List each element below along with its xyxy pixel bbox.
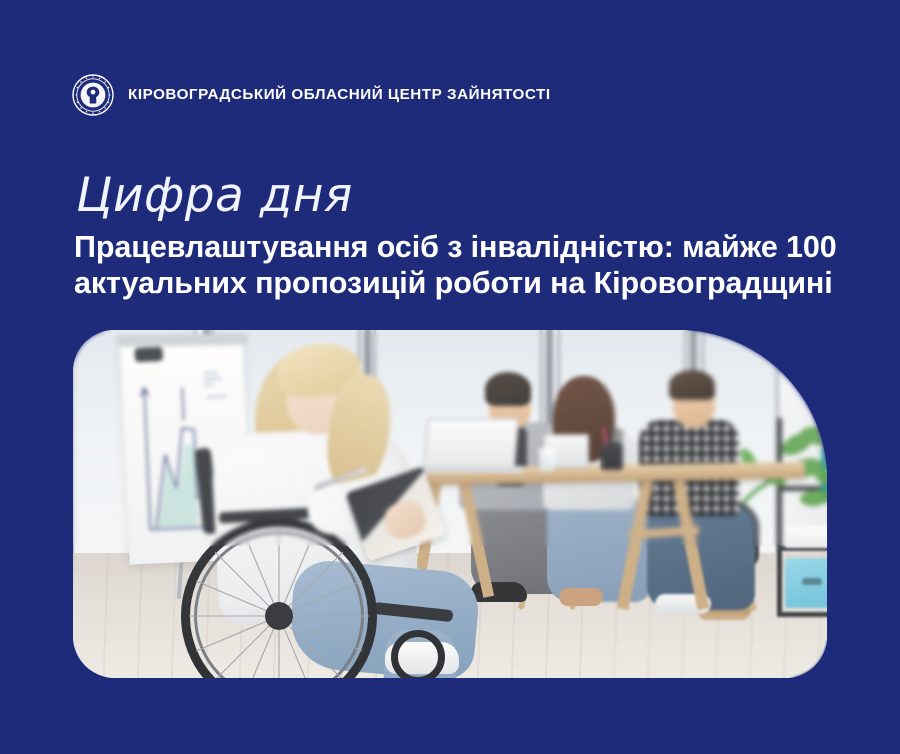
hero-photo-card [73, 330, 827, 678]
kicker-label: Цифра дня [76, 172, 353, 219]
box-handle [802, 578, 822, 585]
laptop-base [417, 466, 523, 473]
shoe [471, 582, 527, 602]
wheel-hub [265, 602, 293, 630]
organization-name: КІРОВОГРАДСЬКИЙ ОБЛАСНИЙ ЦЕНТР ЗАЙНЯТОСТ… [128, 87, 551, 102]
drinking-glass [539, 448, 555, 472]
office-scene-illustration [73, 330, 827, 678]
brand-header: КІРОВОГРАДСЬКИЙ ОБЛАСНИЙ ЦЕНТР ЗАЙНЯТОСТ… [72, 72, 551, 118]
page-headline: Працевлаштування осіб з інвалідністю: ма… [74, 230, 884, 301]
laptop-screen [423, 418, 520, 470]
wheelchair-caster [391, 630, 445, 678]
shelf-plank [777, 612, 827, 617]
hair [669, 370, 715, 400]
dcz-emblem-logo-icon [72, 74, 114, 116]
wheel-spokes-icon [181, 518, 377, 678]
flipchart-rail [116, 333, 248, 347]
pens-icon [601, 426, 625, 446]
pencil-cup [601, 442, 623, 470]
hair [485, 372, 531, 406]
shoe [559, 588, 603, 606]
